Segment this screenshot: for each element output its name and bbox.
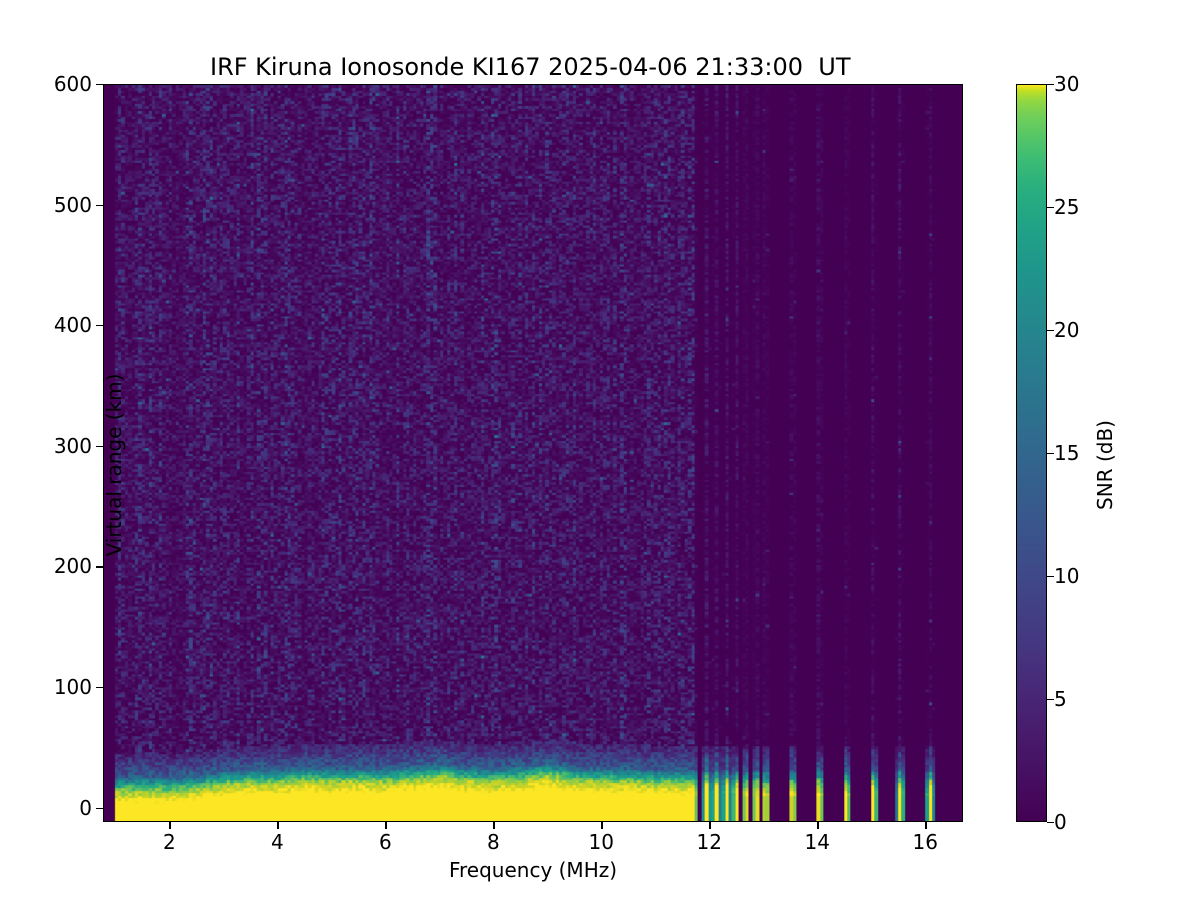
colorbar-tick-mark (1047, 84, 1054, 85)
colorbar-tick-label: 5 (1054, 689, 1067, 709)
x-tick-mark (277, 822, 278, 829)
x-tick-label: 10 (589, 832, 614, 852)
colorbar-tick-mark (1047, 699, 1054, 700)
colorbar-tick-mark (1047, 576, 1054, 577)
y-tick-label: 300 (54, 436, 92, 456)
x-tick-label: 2 (163, 832, 176, 852)
y-tick-mark (96, 205, 103, 206)
figure-canvas: IRF Kiruna Ionosonde KI167 2025-04-06 21… (0, 0, 1200, 900)
y-axis-label: Virtual range (km) (102, 315, 126, 615)
x-tick-label: 6 (379, 832, 392, 852)
colorbar-gradient[interactable] (1016, 84, 1047, 822)
y-tick-label: 200 (54, 556, 92, 576)
y-tick-label: 100 (54, 677, 92, 697)
x-tick-label: 12 (697, 832, 722, 852)
x-tick-label: 14 (805, 832, 830, 852)
x-axis-label: Frequency (MHz) (103, 858, 963, 882)
y-tick-label: 600 (54, 74, 92, 94)
colorbar-label: SNR (dB) (1093, 335, 1117, 595)
y-tick-label: 400 (54, 315, 92, 335)
colorbar-tick-label: 0 (1054, 812, 1067, 832)
y-tick-mark (96, 808, 103, 809)
x-tick-mark (709, 822, 710, 829)
x-tick-label: 8 (487, 832, 500, 852)
y-tick-label: 500 (54, 195, 92, 215)
colorbar-tick-mark (1047, 822, 1054, 823)
colorbar-tick-label: 30 (1054, 74, 1079, 94)
y-tick-mark (96, 84, 103, 85)
ionogram-heatmap (104, 85, 962, 821)
colorbar-tick-mark (1047, 207, 1054, 208)
x-tick-mark (493, 822, 494, 829)
x-tick-label: 16 (912, 832, 937, 852)
y-tick-label: 0 (79, 798, 92, 818)
x-tick-mark (385, 822, 386, 829)
colorbar-tick-label: 25 (1054, 197, 1079, 217)
ionogram-plot-area[interactable] (103, 84, 963, 822)
x-tick-mark (601, 822, 602, 829)
colorbar-tick-label: 20 (1054, 320, 1079, 340)
x-tick-label: 4 (271, 832, 284, 852)
colorbar-tick-mark (1047, 453, 1054, 454)
x-tick-mark (817, 822, 818, 829)
x-tick-mark (925, 822, 926, 829)
y-tick-mark (96, 687, 103, 688)
colorbar-tick-mark (1047, 330, 1054, 331)
x-tick-mark (169, 822, 170, 829)
colorbar-tick-label: 15 (1054, 443, 1079, 463)
title-line-1: IRF Kiruna Ionosonde KI167 2025-04-06 21… (210, 53, 851, 81)
colorbar-tick-label: 10 (1054, 566, 1079, 586)
